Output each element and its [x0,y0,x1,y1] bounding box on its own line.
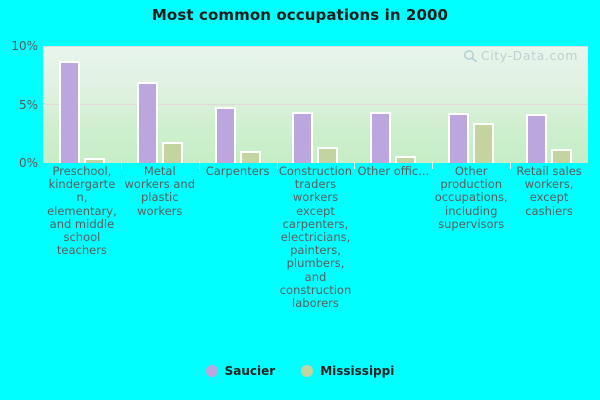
plot-area: City-Data.com [43,46,588,163]
bar-group [277,46,355,163]
legend-item-mississippi[interactable]: Mississippi [301,364,394,378]
legend-swatch-icon [206,365,218,377]
y-axis-tick-label: 5% [19,98,38,112]
legend-swatch-icon [301,365,313,377]
x-axis-category-label: Construction traders workers except carp… [279,165,353,310]
x-axis-separator [199,162,200,169]
x-axis-separator [277,162,278,169]
bar-saucier[interactable] [59,61,80,163]
x-axis: Preschool, kindergarten, elementary, and… [43,165,588,355]
legend-label: Mississippi [320,364,394,378]
bar-mississippi[interactable] [551,149,572,163]
bar-saucier[interactable] [370,112,391,163]
x-axis-category-label: Preschool, kindergarten, elementary, and… [45,165,119,257]
bar-saucier[interactable] [448,113,469,163]
x-axis-separator [432,162,433,169]
y-axis-tick-label: 0% [19,156,38,170]
bar-group [432,46,510,163]
legend-item-saucier[interactable]: Saucier [206,364,276,378]
legend-label: Saucier [225,364,276,378]
bar-mississippi[interactable] [240,151,261,163]
x-axis-category-label: Retail sales workers, except cashiers [512,165,586,218]
x-axis-category-label: Metal workers and plastic workers [123,165,197,218]
bar-saucier[interactable] [215,107,236,163]
x-axis-separator [510,162,511,169]
bar-mississippi[interactable] [395,156,416,163]
y-axis: 0%5%10% [0,46,43,176]
bar-mississippi[interactable] [84,158,105,163]
bar-saucier[interactable] [137,82,158,163]
y-axis-tick-label: 10% [11,39,38,53]
chart-legend: SaucierMississippi [0,364,600,378]
bar-mississippi[interactable] [317,147,338,163]
bar-saucier[interactable] [292,112,313,163]
x-axis-category-label: Carpenters [201,165,275,178]
x-axis-separator [121,162,122,169]
chart-title: Most common occupations in 2000 [0,6,600,24]
bar-group [121,46,199,163]
bar-group [354,46,432,163]
bar-group [199,46,277,163]
bar-mississippi[interactable] [473,123,494,163]
bar-saucier[interactable] [526,114,547,163]
bar-mississippi[interactable] [162,142,183,163]
x-axis-category-label: Other offic... [356,165,430,178]
chart-container: Most common occupations in 2000 0%5%10% … [0,0,600,400]
x-axis-category-label: Other production occupations, including … [434,165,508,231]
x-axis-separator [354,162,355,169]
bar-group [510,46,588,163]
bar-group [43,46,121,163]
